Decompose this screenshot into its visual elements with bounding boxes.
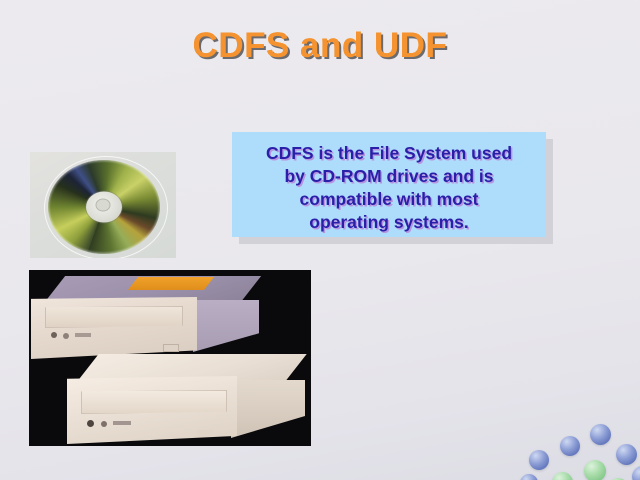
decorative-sphere [520,474,538,480]
body-text-line: CDFS is the File System used [240,142,538,165]
page-title-text: CDFS and UDF [193,26,448,65]
lower-drive-side-panel [231,380,305,438]
upper-drive-eject-button [163,344,179,352]
lower-drive-volume-knob [101,421,107,427]
lower-drive-tray-door [81,390,227,414]
upper-drive-headphone-jack [51,332,57,338]
upper-drive-side-panel [193,300,259,352]
lower-drive-eject-button [197,430,213,437]
cd-rom-disc-photo [30,152,176,258]
sphere-cluster-decoration [520,400,640,480]
decorative-sphere [590,424,611,445]
slide-canvas: CDFS and UDF CDFS is the File System use… [0,0,640,480]
page-title: CDFS and UDF [0,26,640,66]
decorative-sphere [584,460,606,480]
upper-drive-tray-door [45,306,183,328]
decorative-sphere [552,472,573,480]
body-text-box: CDFS is the File System usedby CD-ROM dr… [232,132,546,237]
body-text-line: by CD-ROM drives and is [240,165,538,188]
upper-drive-indicator-strip [75,333,91,337]
decorative-sphere [616,444,637,465]
body-text-line: operating systems. [240,211,538,234]
decorative-sphere [560,436,580,456]
decorative-sphere [632,466,640,480]
body-text: CDFS is the File System usedby CD-ROM dr… [240,142,538,234]
upper-drive-orange-label [128,277,214,290]
lower-drive-indicator-strip [113,421,131,425]
cd-disc-hub [97,200,110,211]
decorative-sphere [529,450,549,470]
body-text-line: compatible with most [240,188,538,211]
upper-drive-volume-knob [63,333,69,339]
lower-drive-headphone-jack [87,420,94,427]
cd-rom-drives-photo [29,270,311,446]
